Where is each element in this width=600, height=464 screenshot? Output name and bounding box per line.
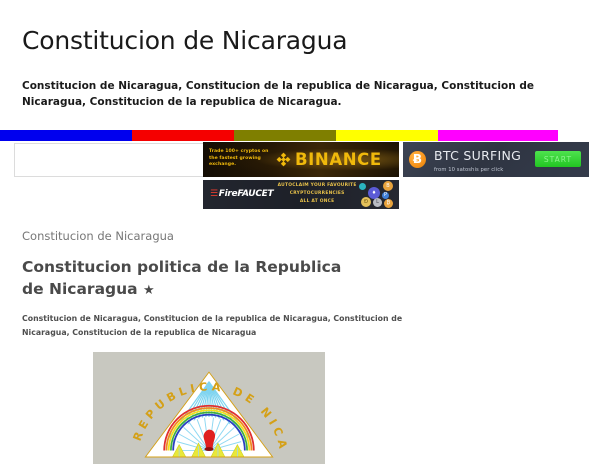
coin-icon-eth: ♦ <box>368 187 380 199</box>
firefaucet-copy: AUTOCLAIM YOUR FAVOURITE CRYPTOCURRENCIE… <box>277 182 357 205</box>
firefaucet-copy-line-1: AUTOCLAIM YOUR FAVOURITE <box>277 182 357 190</box>
color-bar-segment-red <box>132 130 234 141</box>
btc-surfing-ad-banner[interactable]: Ƀ BTC SURFING from 10 satoshis per click… <box>403 142 589 177</box>
empty-ad-slot[interactable] <box>14 143 209 177</box>
coin-icon-btc: ₿ <box>384 199 393 208</box>
coat-of-arms-image[interactable]: REPUBLICA DE NICARAGUA <box>93 352 325 464</box>
firefaucet-ad-banner[interactable]: ☰FireFAUCET AUTOCLAIM YOUR FAVOURITE CRY… <box>203 180 399 209</box>
color-bar-segment-magenta <box>438 130 558 141</box>
bitcoin-coin-icon: Ƀ <box>409 151 426 168</box>
article-title-text: Constitucion politica de la Republica de… <box>22 258 341 298</box>
binance-ad-tagline: Trade 100+ cryptos on the fastest growin… <box>209 149 273 170</box>
firefaucet-copy-line-2: CRYPTOCURRENCIES <box>277 190 357 198</box>
btc-surfing-start-button[interactable]: START <box>535 151 581 167</box>
coin-icon-bch: B <box>383 181 393 191</box>
main-content: Constitucion de Nicaragua Constitucion p… <box>0 229 600 464</box>
color-bar-segment-yellow <box>336 130 438 141</box>
article-title: Constitucion politica de la Republica de… <box>22 256 352 300</box>
coin-icon-ltc: L <box>373 198 382 207</box>
firefaucet-coin-icons: ♦ B P Đ L ₿ <box>357 180 399 209</box>
firefaucet-flame-icon: ☰ <box>210 189 218 199</box>
firefaucet-brand-faucet: FAUCET <box>237 189 273 199</box>
coin-icon-doge: Đ <box>361 197 371 207</box>
coat-of-arms-figure: REPUBLICA DE NICARAGUA <box>22 352 578 464</box>
color-bar <box>0 130 600 141</box>
site-tagline: Constitucion de Nicaragua, Constitucion … <box>22 78 552 111</box>
color-bar-segment-olive <box>234 130 336 141</box>
btc-surfing-title: BTC SURFING <box>434 148 521 163</box>
coin-icon-blue: P <box>382 192 389 199</box>
color-bar-segment-blue <box>0 130 132 141</box>
article-description: Constitucion de Nicaragua, Constitucion … <box>22 312 412 339</box>
star-icon: ★ <box>143 283 155 298</box>
btc-surfing-text-group: BTC SURFING from 10 satoshis per click <box>434 145 535 173</box>
breadcrumb[interactable]: Constitucion de Nicaragua <box>22 229 578 243</box>
binance-logo-icon <box>275 151 292 168</box>
binance-ad-banner[interactable]: Trade 100+ cryptos on the fastest growin… <box>203 142 399 177</box>
firefaucet-copy-line-3: ALL AT ONCE <box>277 198 357 206</box>
page-header: Constitucion de Nicaragua Constitucion d… <box>0 0 600 111</box>
firefaucet-brand-fire: Fire <box>219 189 238 199</box>
coin-icon-teal <box>359 183 366 190</box>
advertisement-strip: Trade 100+ cryptos on the fastest growin… <box>0 141 600 209</box>
binance-brand-name: BINANCE <box>295 150 382 169</box>
btc-surfing-subtitle: from 10 satoshis per click <box>434 167 535 173</box>
firefaucet-logo: ☰FireFAUCET <box>210 189 273 199</box>
page-title: Constitucion de Nicaragua <box>22 26 600 56</box>
